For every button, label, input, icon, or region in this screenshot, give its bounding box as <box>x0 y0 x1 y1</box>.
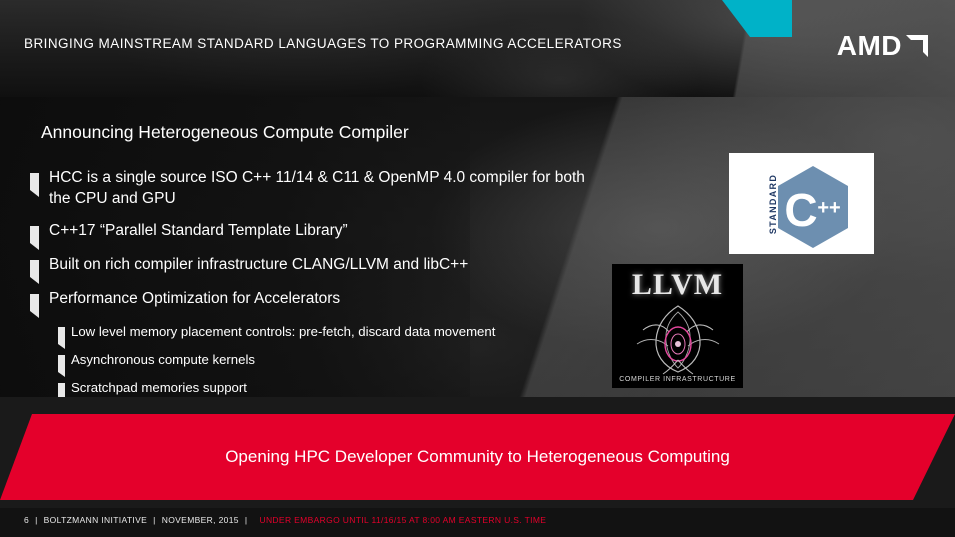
triangle-bullet-icon <box>58 327 65 345</box>
bullet-item: C++17 “Parallel Standard Template Librar… <box>30 221 590 244</box>
slide-footer: 6 | BOLTZMANN INITIATIVE | NOVEMBER, 201… <box>0 508 955 537</box>
llvm-dragon-icon <box>623 300 733 378</box>
bullet-text: C++17 “Parallel Standard Template Librar… <box>49 221 348 242</box>
bullet-item: Performance Optimization for Accelerator… <box>30 289 590 312</box>
footer-date: NOVEMBER, 2015 <box>162 515 239 525</box>
footer-deck-name: BOLTZMANN INITIATIVE <box>44 515 148 525</box>
footer-page-number: 6 <box>24 515 29 525</box>
bullet-item: HCC is a single source ISO C++ 11/14 & C… <box>30 168 590 210</box>
slide-subtitle: Announcing Heterogeneous Compute Compile… <box>41 122 409 143</box>
banner-area: Opening HPC Developer Community to Heter… <box>0 397 955 517</box>
amd-logo-text: AMD <box>837 30 902 62</box>
bullet-text: HCC is a single source ISO C++ 11/14 & C… <box>49 168 590 210</box>
bullet-text: Performance Optimization for Accelerator… <box>49 289 340 310</box>
slide-header: BRINGING MAINSTREAM STANDARD LANGUAGES T… <box>0 0 955 97</box>
llvm-logo: LLVM COMPILER INFRASTRUCTURE <box>612 264 743 388</box>
banner-text: Opening HPC Developer Community to Heter… <box>0 414 955 500</box>
svg-text:++: ++ <box>817 197 840 219</box>
bullet-text: Built on rich compiler infrastructure CL… <box>49 255 468 276</box>
sub-bullet-item: Asynchronous compute kernels <box>58 351 590 373</box>
sub-bullet-list: Low level memory placement controls: pre… <box>58 323 590 401</box>
footer-separator: | <box>35 515 38 525</box>
llvm-wordmark: LLVM <box>632 268 723 302</box>
sub-bullet-text: Low level memory placement controls: pre… <box>71 323 495 340</box>
triangle-bullet-icon <box>30 226 39 244</box>
sub-bullet-text: Scratchpad memories support <box>71 379 247 396</box>
cpp-standard-logo: STANDARD C ++ <box>729 153 874 254</box>
footer-embargo-notice: UNDER EMBARGO UNTIL 11/16/15 AT 8:00 AM … <box>259 515 546 525</box>
bullet-list: HCC is a single source ISO C++ 11/14 & C… <box>30 168 590 407</box>
bullet-item: Built on rich compiler infrastructure CL… <box>30 255 590 278</box>
amd-logo: AMD <box>837 30 928 62</box>
triangle-bullet-icon <box>30 260 39 278</box>
triangle-bullet-icon <box>30 173 39 191</box>
triangle-bullet-icon <box>58 355 65 373</box>
triangle-bullet-icon <box>30 294 39 312</box>
slide-title: BRINGING MAINSTREAM STANDARD LANGUAGES T… <box>24 36 622 51</box>
cpp-hexagon-icon: C ++ <box>774 164 846 244</box>
llvm-subtitle: COMPILER INFRASTRUCTURE <box>619 376 735 383</box>
footer-separator: | <box>245 515 248 525</box>
amd-arrow-icon <box>906 35 928 57</box>
slide: BRINGING MAINSTREAM STANDARD LANGUAGES T… <box>0 0 955 537</box>
footer-separator: | <box>153 515 156 525</box>
svg-text:C: C <box>784 184 817 236</box>
sub-bullet-text: Asynchronous compute kernels <box>71 351 255 368</box>
sub-bullet-item: Low level memory placement controls: pre… <box>58 323 590 345</box>
